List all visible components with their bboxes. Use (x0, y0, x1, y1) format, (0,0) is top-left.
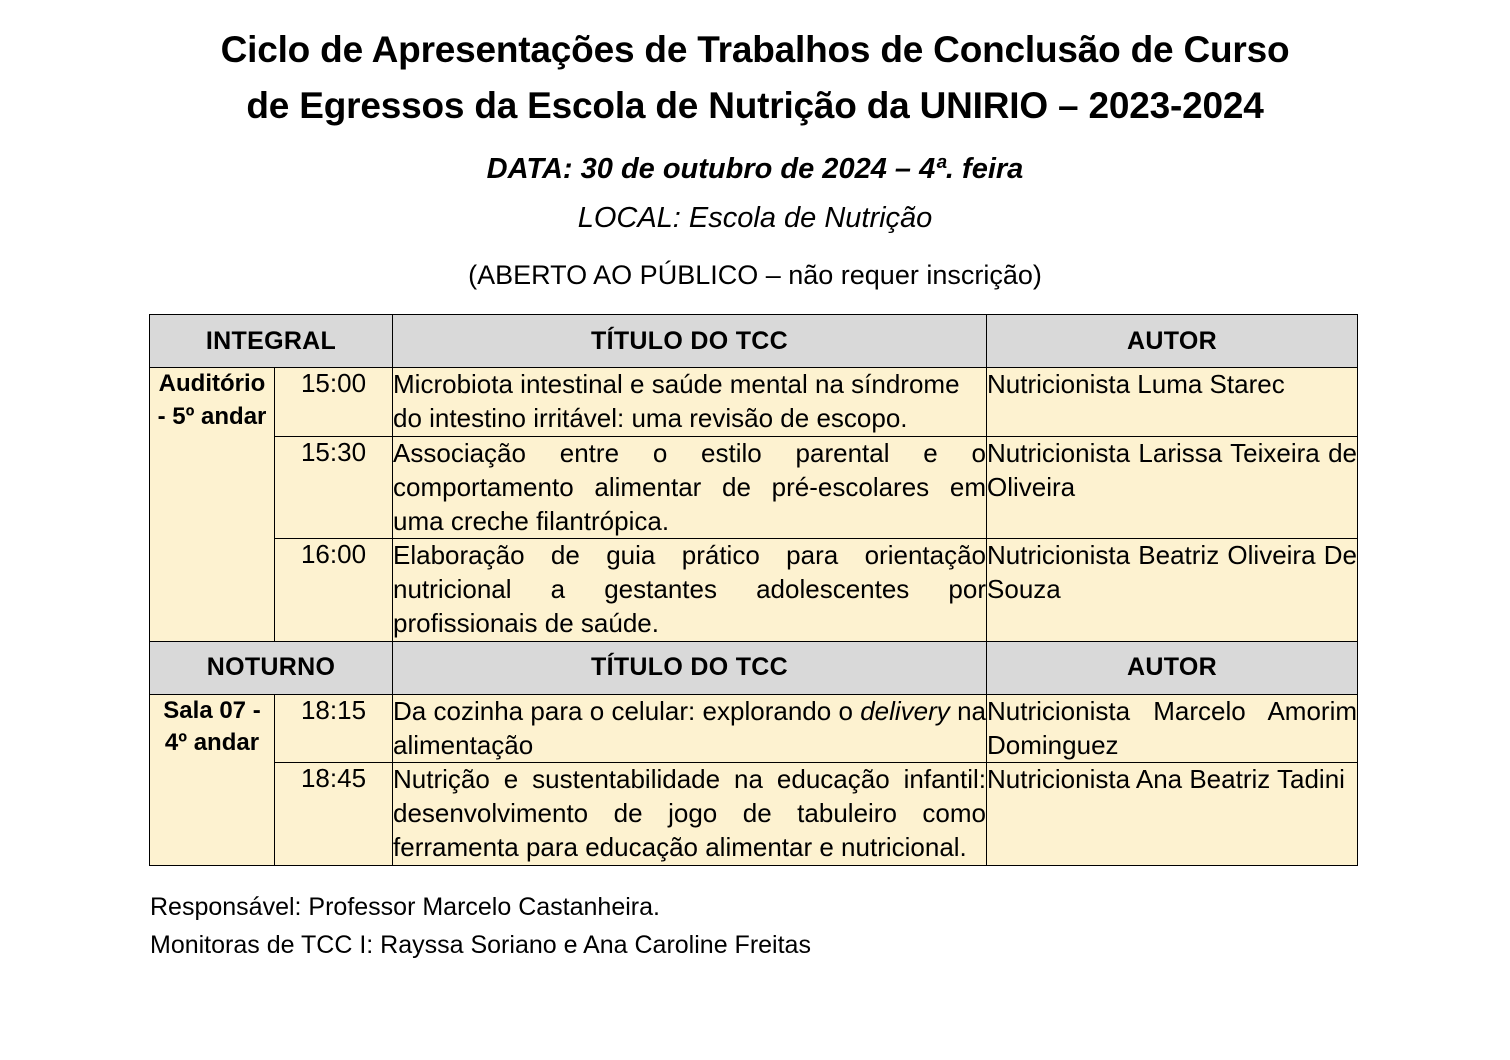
author-cell: Nutricionista Marcelo Amorim Dominguez (987, 694, 1358, 763)
time-cell: 18:45 (275, 763, 393, 865)
table-row: 18:45 Nutrição e sustentabilidade na edu… (150, 763, 1358, 865)
room-line-2: - 5º andar (158, 403, 267, 430)
table-row: Auditório - 5º andar 15:00 Microbiota in… (150, 368, 1358, 437)
footer-responsavel: Responsável: Professor Marcelo Castanhei… (150, 888, 1510, 927)
room-line-2: 4º andar (165, 729, 259, 756)
schedule-table: INTEGRAL TÍTULO DO TCC AUTOR Auditório -… (149, 314, 1358, 865)
event-location: LOCAL: Escola de Nutrição (0, 197, 1510, 239)
page-title-line-1: Ciclo de Apresentações de Trabalhos de C… (0, 22, 1510, 78)
table-row: 16:00 Elaboração de guia prático para or… (150, 539, 1358, 641)
schedule-table-wrapper: INTEGRAL TÍTULO DO TCC AUTOR Auditório -… (149, 314, 1357, 865)
room-cell-auditorio: Auditório - 5º andar (150, 368, 275, 641)
room-line-1: Auditório (159, 370, 266, 397)
time-cell: 18:15 (275, 694, 393, 763)
room-cell-sala07: Sala 07 - 4º andar (150, 694, 275, 865)
author-cell: Nutricionista Beatriz Oliveira De Souza (987, 539, 1358, 641)
footer-monitoras: Monitoras de TCC I: Rayssa Soriano e Ana… (150, 926, 1510, 965)
tcc-title-cell: Associação entre o estilo parental e o c… (393, 436, 987, 538)
column-header-title-integral: TÍTULO DO TCC (393, 315, 987, 368)
author-cell: Nutricionista Luma Starec (987, 368, 1358, 437)
table-row: 15:30 Associação entre o estilo parental… (150, 436, 1358, 538)
column-header-shift-noturno: NOTURNO (150, 641, 393, 694)
section-header-integral: INTEGRAL TÍTULO DO TCC AUTOR (150, 315, 1358, 368)
column-header-author-integral: AUTOR (987, 315, 1358, 368)
public-access-note: (ABERTO AO PÚBLICO – não requer inscriçã… (0, 257, 1510, 295)
tcc-title-cell: Da cozinha para o celular: explorando o … (393, 694, 987, 763)
time-cell: 15:00 (275, 368, 393, 437)
tcc-text-part-1: Da cozinha para o celular: explorando o (393, 696, 860, 726)
column-header-title-noturno: TÍTULO DO TCC (393, 641, 987, 694)
table-row: Sala 07 - 4º andar 18:15 Da cozinha para… (150, 694, 1358, 763)
page-title-line-2: de Egressos da Escola de Nutrição da UNI… (0, 78, 1510, 134)
tcc-text-italic: delivery (860, 696, 950, 726)
section-header-noturno: NOTURNO TÍTULO DO TCC AUTOR (150, 641, 1358, 694)
column-header-shift-integral: INTEGRAL (150, 315, 393, 368)
author-cell: Nutricionista Ana Beatriz Tadini (987, 763, 1358, 865)
author-cell: Nutricionista Larissa Teixeira de Olivei… (987, 436, 1358, 538)
time-cell: 16:00 (275, 539, 393, 641)
document-footer: Responsável: Professor Marcelo Castanhei… (150, 888, 1510, 966)
document-page: Ciclo de Apresentações de Trabalhos de C… (0, 0, 1510, 1060)
tcc-title-cell: Microbiota intestinal e saúde mental na … (393, 368, 987, 437)
event-date: DATA: 30 de outubro de 2024 – 4ª. feira (0, 148, 1510, 190)
document-heading: Ciclo de Apresentações de Trabalhos de C… (0, 0, 1510, 294)
room-line-1: Sala 07 - (163, 697, 260, 724)
tcc-title-cell: Nutrição e sustentabilidade na educação … (393, 763, 987, 865)
time-cell: 15:30 (275, 436, 393, 538)
tcc-title-cell: Elaboração de guia prático para orientaç… (393, 539, 987, 641)
column-header-author-noturno: AUTOR (987, 641, 1358, 694)
